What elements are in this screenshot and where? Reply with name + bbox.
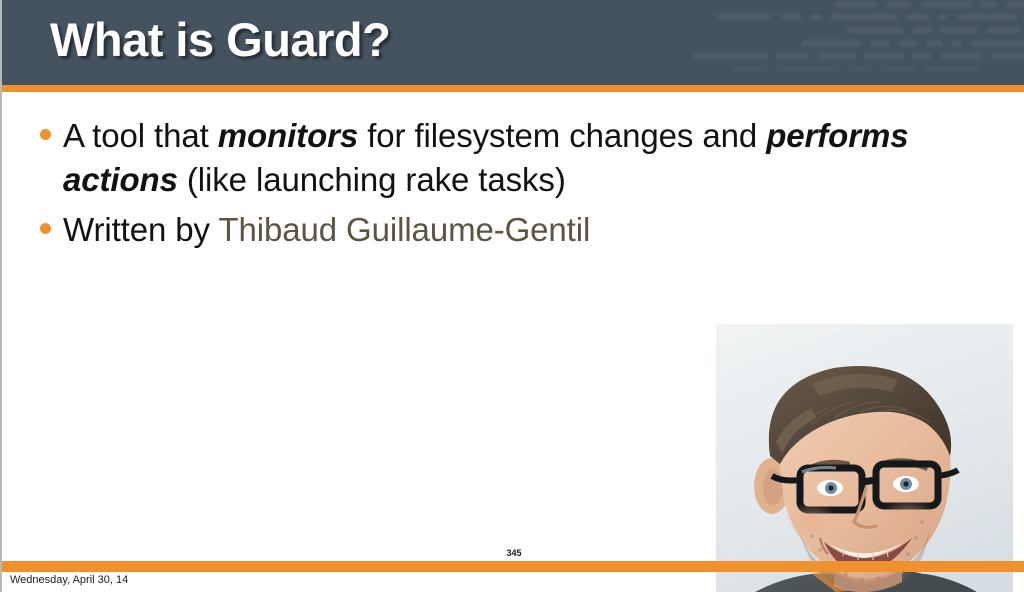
bullet-1-segment-emphasis-monitors: monitors <box>218 117 358 154</box>
bullet-dot-icon <box>40 129 51 140</box>
footer-accent-rule <box>2 561 1024 572</box>
bullet-1-segment-plain-b: for filesystem changes and <box>358 117 766 154</box>
page-number: 345 <box>2 548 1024 558</box>
slide-body: A tool that monitors for filesystem chan… <box>2 92 1024 560</box>
bullet-text-1: A tool that monitors for filesystem chan… <box>63 114 930 202</box>
list-item: A tool that monitors for filesystem chan… <box>40 114 930 202</box>
bullet-list: A tool that monitors for filesystem chan… <box>40 114 930 258</box>
footer-date: Wednesday, April 30, 14 <box>10 574 128 586</box>
bullet-text-2: Written by Thibaud Guillaume-Gentil <box>63 208 930 252</box>
bullet-2-segment-plain-a: Written by <box>63 211 218 248</box>
bullet-1-segment-plain-c: (like launching rake tasks) <box>178 161 566 198</box>
author-name-link[interactable]: Thibaud Guillaume-Gentil <box>218 211 590 248</box>
presentation-slide: What is Guard? A tool that monitors for … <box>0 0 1024 592</box>
header-accent-rule <box>2 85 1024 92</box>
slide-header: What is Guard? <box>2 0 1024 85</box>
bullet-1-segment-plain-a: A tool that <box>63 117 218 154</box>
bullet-dot-icon <box>40 223 51 234</box>
header-decorative-pattern <box>666 0 1024 85</box>
slide-title: What is Guard? <box>50 12 390 67</box>
list-item: Written by Thibaud Guillaume-Gentil <box>40 208 930 252</box>
